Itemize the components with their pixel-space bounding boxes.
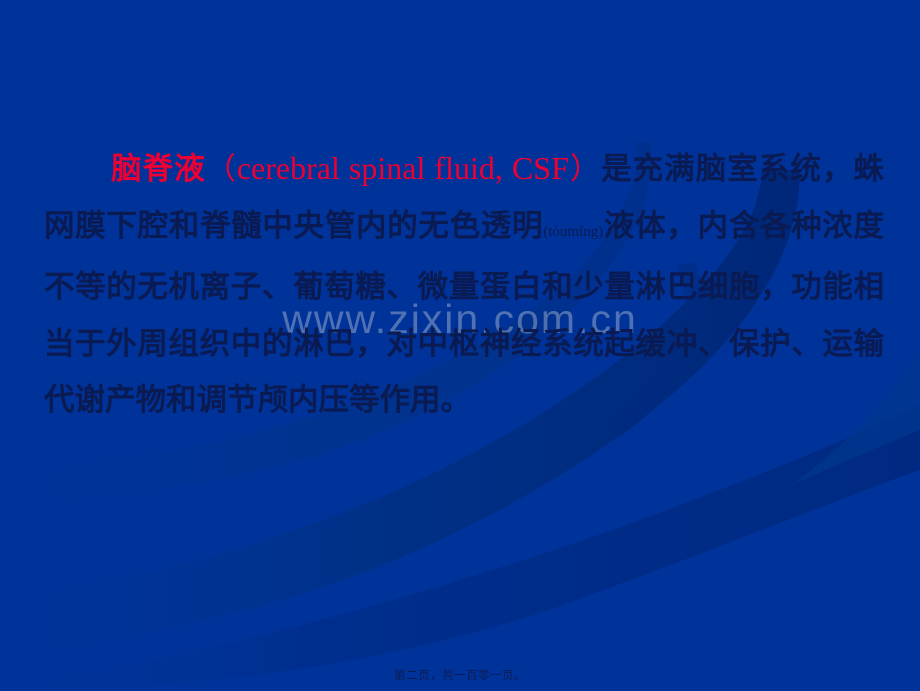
slide-canvas: www.zixin.com.cn 脑脊液（cerebral spinal flu… (0, 0, 920, 691)
latin-term-csf: cerebral spinal fluid, CSF (237, 150, 569, 186)
paren-close: ） (569, 152, 601, 187)
keyword-csf-chinese: 脑脊液 (110, 152, 206, 187)
paren-open: （ (206, 152, 237, 187)
pinyin-gloss-touming: (tòumíng) (543, 224, 603, 240)
page-indicator: 第二页，共一百零一页。 (0, 667, 920, 683)
slide-body-paragraph: 脑脊液（cerebral spinal fluid, CSF）是充满脑室系统，蛛… (44, 140, 884, 430)
